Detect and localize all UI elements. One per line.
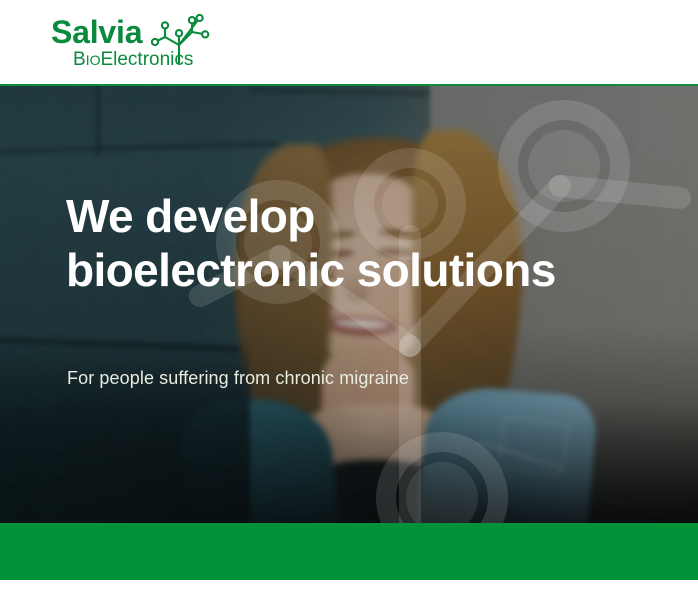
green-accent-bar [0,523,698,580]
hero-subtitle: For people suffering from chronic migrai… [67,366,409,390]
logo-subword-smallcaps: IO [86,52,101,68]
page-root: Salvia BIOElectronics [0,0,698,591]
hero-section: We developbioelectronic solutions For pe… [0,86,698,523]
hero-content: We developbioelectronic solutions For pe… [66,86,666,523]
site-header: Salvia BIOElectronics [0,0,698,84]
hero-title: We developbioelectronic solutions [66,189,626,297]
circuit-tree-icon [151,12,211,64]
logo[interactable]: Salvia BIOElectronics [51,14,261,72]
footer-strip [0,580,698,591]
hero-title-line-1: We develop [66,190,315,242]
logo-wordmark: Salvia [51,14,142,50]
logo-subword-prefix: B [73,49,86,70]
hero-title-line-2: bioelectronic solutions [66,244,556,296]
